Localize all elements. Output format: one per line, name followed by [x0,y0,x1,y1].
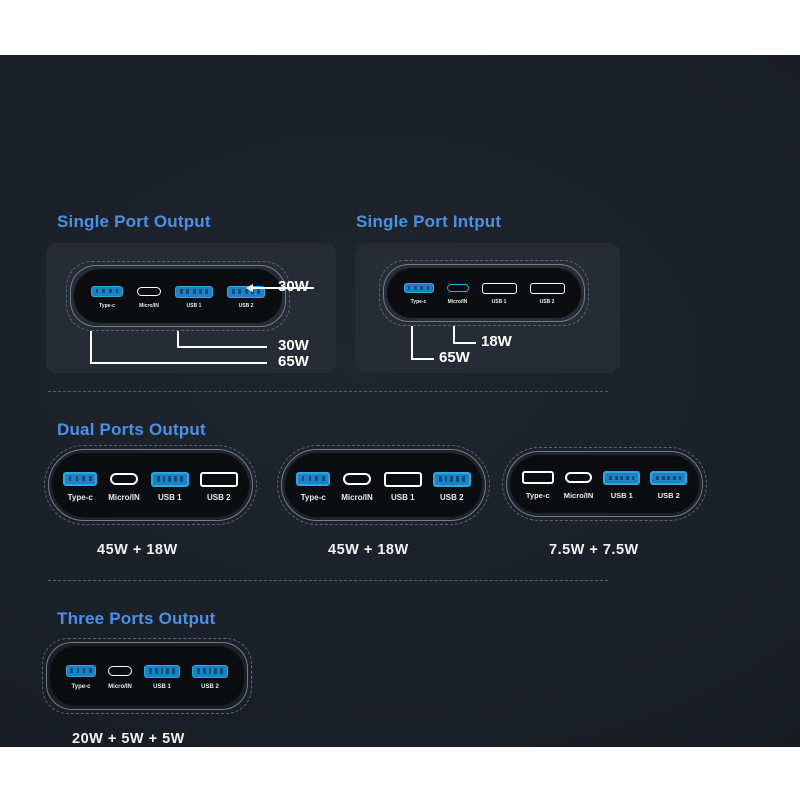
port-label: Micro/IN [341,493,373,502]
callout-value-30w-mid: 30W [278,337,309,354]
usb-a-port-icon [433,472,471,487]
port-label: Type-c [526,491,550,500]
usb-a-port-icon [650,471,687,485]
usb-a-port-icon [482,283,517,294]
port-label: USB 2 [207,493,231,502]
port-label: USB 1 [492,299,507,305]
port-usb-2[interactable]: USB 2 [530,283,565,305]
micro-usb-port-icon [565,472,592,483]
micro-usb-port-icon [137,287,161,296]
port-label: Micro/IN [139,303,159,309]
usb-a-port-icon [192,665,228,678]
port-label: USB 2 [540,299,555,305]
callout-value-18w: 18W [481,333,512,350]
callout-line-18w-vertical [453,326,455,343]
usb-a-port-icon [175,286,213,298]
port-type-c[interactable]: Type-c [66,665,96,690]
section-divider-1 [48,391,608,392]
callout-line-65w-horizontal [411,358,434,360]
device-dual-output-2: Type-c Micro/IN USB 1 USB 2 [277,445,490,525]
port-label: Micro/IN [564,491,594,500]
port-label: Type-c [99,303,115,309]
port-micro-in[interactable]: Micro/IN [108,472,140,502]
usb-a-port-icon [63,472,97,486]
port-usb-1[interactable]: USB 1 [175,286,213,309]
port-label: Type-c [68,493,93,502]
port-type-c[interactable]: Type-c [404,283,434,305]
callout-arrow-icon [246,284,253,292]
section-title-single-port-input: Single Port Intput [356,212,501,232]
callout-line-65w-horizontal [90,362,267,364]
usb-a-port-icon [151,472,189,487]
port-type-c[interactable]: Type-c [63,472,97,502]
port-label: USB 1 [611,491,633,500]
callout-line-30w-mid-horizontal [177,346,267,348]
card-single-port-input: Type-c Micro/IN USB 1 [355,243,620,373]
port-label: USB 2 [201,684,219,690]
usb-a-port-icon [144,665,180,678]
port-label: USB 1 [391,493,415,502]
device-port-face: Type-c Micro/IN USB 1 USB 2 [510,455,699,513]
port-micro-in[interactable]: Micro/IN [564,471,594,500]
port-group-three-output: Type-c Micro/IN USB 1 USB 2 [66,665,228,690]
port-usb-1[interactable]: USB 1 [144,665,180,690]
device-single-port-output: Type-c Micro/IN USB 1 [66,261,290,331]
port-group-single-input: Type-c Micro/IN USB 1 [404,283,565,305]
usb-a-port-icon [522,471,554,484]
port-usb-2[interactable]: USB 2 [192,665,228,690]
callout-value-30w-top: 30W [278,278,309,295]
micro-usb-port-icon [108,666,132,676]
micro-usb-port-icon [110,473,138,485]
summary-dual-3: 7.5W + 7.5W [549,542,639,558]
port-label: Micro/IN [108,493,140,502]
port-label: USB 1 [187,303,202,309]
port-label: USB 1 [158,493,182,502]
port-label: Micro/IN [108,684,132,690]
port-usb-2[interactable]: USB 2 [650,471,687,500]
device-single-port-input: Type-c Micro/IN USB 1 [379,260,589,326]
usb-a-port-icon [91,286,123,297]
summary-dual-2: 45W + 18W [328,542,409,558]
port-micro-in[interactable]: Micro/IN [108,665,132,690]
port-usb-1[interactable]: USB 1 [482,283,517,305]
section-title-single-port-output: Single Port Output [57,212,211,232]
port-micro-in[interactable]: Micro/IN [341,472,373,502]
device-dual-output-1: Type-c Micro/IN USB 1 USB 2 [44,445,257,525]
usb-a-port-icon [200,472,238,487]
device-dual-output-3: Type-c Micro/IN USB 1 USB 2 [502,447,707,521]
usb-a-port-icon [384,472,422,487]
port-group-single-output: Type-c Micro/IN USB 1 [91,286,265,309]
usb-a-port-icon [603,471,640,485]
usb-a-port-icon [530,283,565,294]
port-type-c[interactable]: Type-c [522,471,554,500]
usb-a-port-icon [404,283,434,293]
callout-line-30w-mid-vertical [177,331,179,347]
port-micro-in[interactable]: Micro/IN [137,286,161,309]
micro-usb-port-icon [447,284,469,292]
device-port-face: Type-c Micro/IN USB 1 USB 2 [285,453,482,517]
port-usb-1[interactable]: USB 1 [151,472,189,502]
callout-line-18w-horizontal [453,342,476,344]
port-label: USB 1 [153,684,171,690]
usb-a-port-icon [296,472,330,486]
port-label: Type-c [301,493,326,502]
micro-usb-port-icon [343,473,371,485]
port-group-dual-1: Type-c Micro/IN USB 1 USB 2 [63,472,238,502]
port-group-dual-3: Type-c Micro/IN USB 1 USB 2 [522,471,688,500]
port-label: Type-c [72,684,91,690]
infographic-stage: Single Port Output Type-c Micro/IN [0,55,800,747]
port-label: Type-c [411,299,427,305]
card-single-port-output: Type-c Micro/IN USB 1 [46,243,336,373]
port-type-c[interactable]: Type-c [91,286,123,309]
port-label: USB 2 [440,493,464,502]
port-usb-1[interactable]: USB 1 [603,471,640,500]
device-three-ports-output: Type-c Micro/IN USB 1 USB 2 [42,638,252,714]
port-label: USB 2 [239,303,254,309]
port-type-c[interactable]: Type-c [296,472,330,502]
section-title-three-ports-output: Three Ports Output [57,609,216,629]
port-usb-1[interactable]: USB 1 [384,472,422,502]
callout-line-65w-vertical [90,331,92,363]
callout-value-65w: 65W [439,349,470,366]
device-port-face: Type-c Micro/IN USB 1 [387,268,581,318]
device-port-face: Type-c Micro/IN USB 1 [74,269,282,323]
section-divider-2 [48,580,608,581]
port-group-dual-2: Type-c Micro/IN USB 1 USB 2 [296,472,471,502]
summary-three-ports: 20W + 5W + 5W [72,731,185,747]
port-label: Micro/IN [448,299,468,305]
port-usb-2[interactable]: USB 2 [200,472,238,502]
port-label: USB 2 [658,491,680,500]
section-title-dual-ports-output: Dual Ports Output [57,420,206,440]
summary-dual-1: 45W + 18W [97,542,178,558]
callout-line-65w-vertical [411,326,413,359]
port-usb-2[interactable]: USB 2 [433,472,471,502]
callout-value-65w: 65W [278,353,309,370]
port-micro-in[interactable]: Micro/IN [447,283,469,305]
usb-a-port-icon [66,665,96,677]
device-port-face: Type-c Micro/IN USB 1 USB 2 [50,646,244,706]
device-port-face: Type-c Micro/IN USB 1 USB 2 [52,453,249,517]
